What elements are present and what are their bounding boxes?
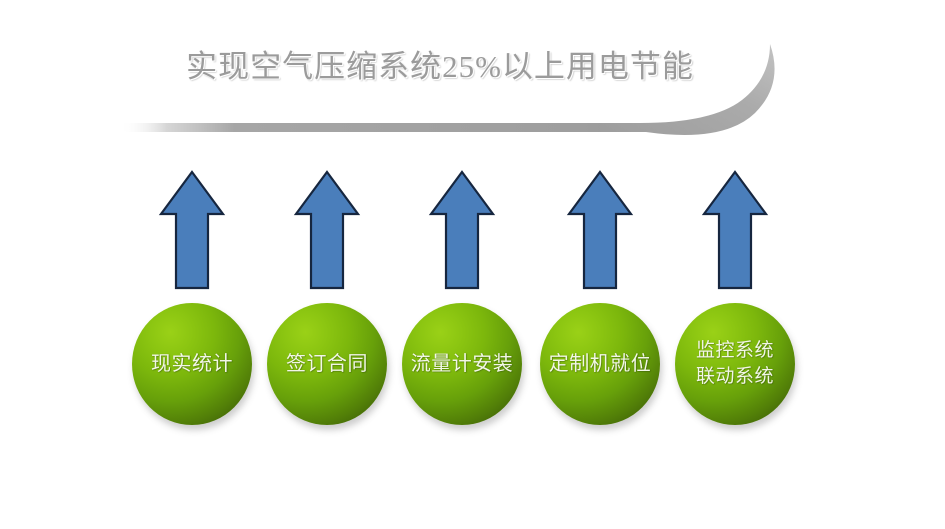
slide-canvas: 实现空气压缩系统25%以上用电节能 — [0, 0, 945, 529]
process-step-label: 现实统计 — [147, 351, 237, 378]
process-step-3[interactable]: 流量计安装 — [402, 303, 522, 425]
process-step-5[interactable]: 监控系统 联动系统 — [675, 303, 795, 425]
up-arrow-icon-1 — [157, 170, 227, 292]
up-arrow-icon-2 — [292, 170, 362, 292]
process-step-row: 现实统计 签订合同 流量计安装 定制机就位 监控系统 联动系统 — [0, 303, 945, 433]
process-step-label: 监控系统 联动系统 — [692, 338, 778, 390]
page-title: 实现空气压缩系统25%以上用电节能 — [120, 44, 760, 90]
up-arrow-icon-3 — [427, 170, 497, 292]
process-step-label: 定制机就位 — [545, 351, 656, 378]
process-step-4[interactable]: 定制机就位 — [540, 303, 660, 425]
up-arrow-icon-5 — [700, 170, 770, 292]
process-step-2[interactable]: 签订合同 — [267, 303, 387, 425]
process-step-label: 流量计安装 — [407, 351, 518, 378]
title-banner: 实现空气压缩系统25%以上用电节能 — [0, 28, 945, 148]
process-step-1[interactable]: 现实统计 — [132, 303, 252, 425]
process-step-label: 签订合同 — [282, 351, 372, 378]
arrow-row — [0, 170, 945, 292]
up-arrow-icon-4 — [565, 170, 635, 292]
